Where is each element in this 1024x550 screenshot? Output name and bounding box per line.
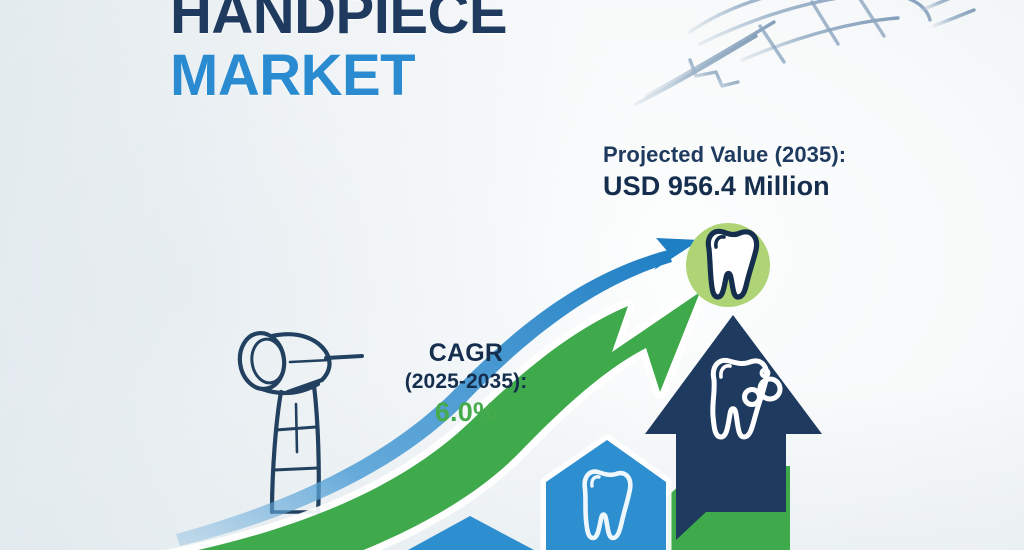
cagr-block: CAGR (2025-2035): 6.0%: [386, 338, 546, 429]
page-title: HANDPIECE MARKET: [170, 0, 507, 103]
projected-value-block: Projected Value (2035): USD 956.4 Millio…: [603, 142, 846, 202]
cagr-label-line-2: (2025-2035):: [386, 369, 546, 395]
infographic-canvas: HANDPIECE MARKET Projected Value (2035):…: [0, 0, 1024, 550]
cagr-value: 6.0%: [386, 396, 546, 429]
tooth-badge-circle: [0, 0, 1024, 550]
projected-value-label: Projected Value (2035):: [603, 142, 846, 168]
cagr-label-line-1: CAGR: [386, 338, 546, 369]
title-line-1: HANDPIECE: [170, 0, 507, 42]
title-line-2: MARKET: [170, 48, 507, 104]
projected-value-amount: USD 956.4 Million: [603, 171, 846, 202]
